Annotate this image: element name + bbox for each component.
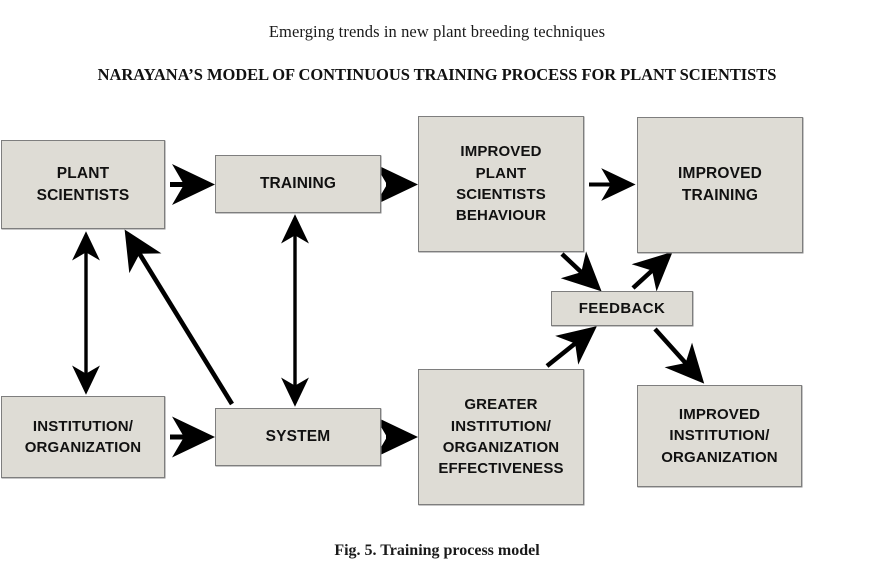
node-feedback[interactable]: FEEDBACK: [551, 291, 693, 326]
node-system[interactable]: SYSTEM: [215, 408, 381, 466]
node-institution-organization[interactable]: INSTITUTION/ ORGANIZATION: [1, 396, 165, 478]
node-improved-plant-scientists-behaviour[interactable]: IMPROVED PLANT SCIENTISTS BEHAVIOUR: [418, 116, 584, 252]
edge-improved-behaviour-to-feedback: [562, 254, 597, 287]
training-process-flowchart: PLANT SCIENTISTS TRAINING IMPROVED PLANT…: [0, 0, 874, 585]
figure-page: Emerging trends in new plant breeding te…: [0, 0, 874, 585]
node-improved-institution-organization[interactable]: IMPROVED INSTITUTION/ ORGANIZATION: [637, 385, 802, 487]
node-plant-scientists[interactable]: PLANT SCIENTISTS: [1, 140, 165, 229]
edge-greater-effectiveness-to-feedback: [547, 330, 592, 366]
node-improved-training[interactable]: IMPROVED TRAINING: [637, 117, 803, 253]
edge-feedback-to-improved-training: [633, 256, 668, 288]
node-greater-institution-organization-effectiveness[interactable]: GREATER INSTITUTION/ ORGANIZATION EFFECT…: [418, 369, 584, 505]
edge-system-to-plant-scientists: [128, 235, 232, 404]
figure-caption: Fig. 5. Training process model: [0, 542, 874, 560]
node-training[interactable]: TRAINING: [215, 155, 381, 213]
edge-feedback-to-improved-institution: [655, 329, 700, 379]
